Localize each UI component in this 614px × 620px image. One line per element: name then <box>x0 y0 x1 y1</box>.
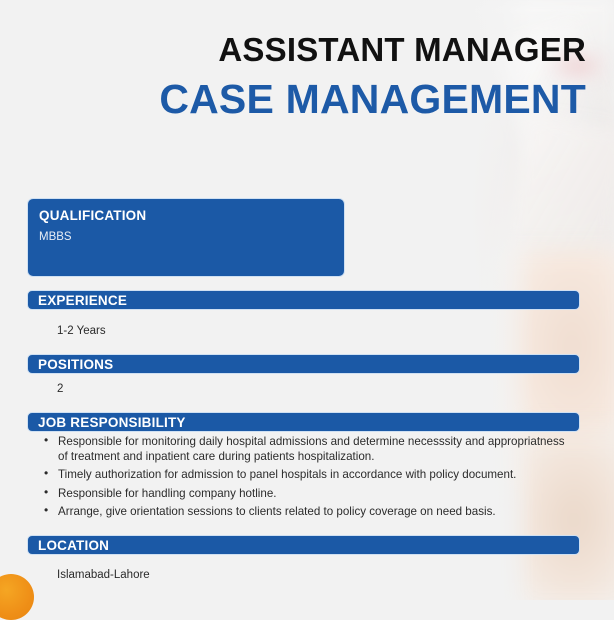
qualification-value: MBBS <box>39 231 344 243</box>
positions-label: POSITIONS <box>27 354 580 374</box>
positions-value: 2 <box>57 383 63 395</box>
list-item: Responsible for monitoring daily hospita… <box>56 434 576 464</box>
job-responsibility-list: Responsible for monitoring daily hospita… <box>40 432 576 519</box>
list-item: Arrange, give orientation sessions to cl… <box>56 504 576 519</box>
list-item: Responsible for handling company hotline… <box>56 486 576 501</box>
qualification-section: QUALIFICATION MBBS <box>27 198 345 277</box>
location-value: Islamabad-Lahore <box>57 569 150 581</box>
job-responsibility-label: JOB RESPONSIBILITY <box>27 412 580 432</box>
list-item: Timely authorization for admission to pa… <box>56 467 576 482</box>
location-label: LOCATION <box>27 535 580 555</box>
experience-label: EXPERIENCE <box>27 290 580 310</box>
qualification-label: QUALIFICATION <box>39 208 344 223</box>
job-details: QUALIFICATION MBBS EXPERIENCE 1-2 Years … <box>0 0 614 600</box>
experience-value: 1-2 Years <box>57 325 106 337</box>
